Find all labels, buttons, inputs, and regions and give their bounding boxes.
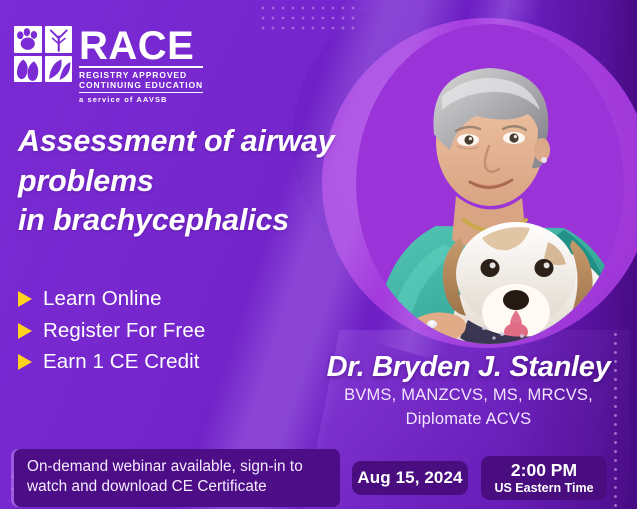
triangle-arrow-icon: [18, 323, 32, 339]
on-demand-note-box: On-demand webinar available, sign-in to …: [14, 449, 340, 507]
logo-cell-hoof: [14, 56, 42, 83]
webinar-promo-poster: RACE REGISTRY APPROVED CONTINUING EDUCAT…: [0, 0, 637, 509]
speaker-block: Dr. Bryden J. Stanley BVMS, MANZCVS, MS,…: [300, 352, 637, 429]
time-badge: 2:00 PM US Eastern Time: [481, 456, 607, 500]
timezone-text: US Eastern Time: [494, 481, 593, 495]
benefit-label: Earn 1 CE Credit: [43, 352, 200, 373]
date-badge: Aug 15, 2024: [352, 461, 468, 495]
logo-cell-branch: [45, 26, 73, 53]
title-line-2: in brachycephalics: [18, 201, 468, 241]
logo-divider-bottom: [79, 92, 203, 94]
race-logo-subtitle-3: a service of AAVSB: [79, 95, 203, 104]
time-text: 2:00 PM: [511, 461, 577, 479]
logo-cell-paw: [14, 26, 42, 53]
benefits-list: Learn Online Register For Free Earn 1 CE…: [18, 289, 205, 384]
title-line-1: Assessment of airway problems: [18, 122, 468, 201]
benefit-label: Register For Free: [43, 321, 205, 342]
race-logo: RACE REGISTRY APPROVED CONTINUING EDUCAT…: [14, 26, 203, 104]
on-demand-note-text: On-demand webinar available, sign-in to …: [27, 457, 329, 498]
triangle-arrow-icon: [18, 354, 32, 370]
race-logo-subtitle-1: REGISTRY APPROVED: [79, 70, 203, 80]
date-text: Aug 15, 2024: [357, 468, 462, 488]
triangle-arrow-icon: [18, 291, 32, 307]
list-item: Register For Free: [18, 321, 205, 342]
race-logo-name: RACE: [79, 28, 203, 65]
dot-grid-pattern-top: [256, 0, 358, 34]
speaker-name: Dr. Bryden J. Stanley: [300, 352, 637, 382]
benefit-label: Learn Online: [43, 289, 162, 310]
list-item: Learn Online: [18, 289, 205, 310]
race-logo-wordmark: RACE REGISTRY APPROVED CONTINUING EDUCAT…: [79, 26, 203, 104]
speaker-credentials-line-2: Diplomate ACVS: [300, 410, 637, 429]
page-title: Assessment of airway problems in brachyc…: [18, 122, 468, 241]
logo-cell-leaf: [45, 56, 73, 83]
list-item: Earn 1 CE Credit: [18, 352, 205, 373]
race-logo-subtitle-2: CONTINUING EDUCATION: [79, 80, 203, 90]
speaker-credentials-line-1: BVMS, MANZCVS, MS, MRCVS,: [300, 386, 637, 405]
race-paw-grid-logo-icon: [14, 26, 72, 82]
